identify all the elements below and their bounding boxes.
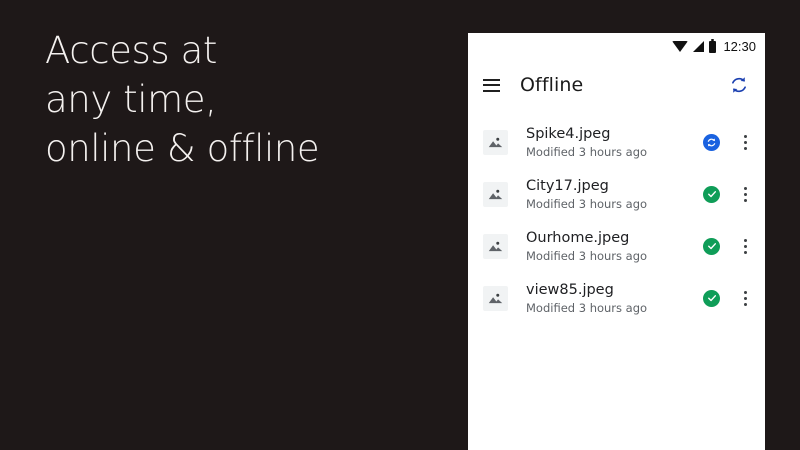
- file-name: view85.jpeg: [526, 281, 703, 299]
- kebab-dot: [744, 141, 747, 144]
- check-badge-glyph: [706, 292, 718, 304]
- hamburger-bar: [483, 90, 500, 92]
- file-modified: Modified 3 hours ago: [526, 196, 703, 212]
- file-info: view85.jpeg Modified 3 hours ago: [526, 281, 703, 316]
- image-placeholder-icon: [483, 130, 508, 155]
- hamburger-bar: [483, 79, 500, 81]
- promo-headline-line-3: online & offline: [45, 124, 445, 173]
- image-placeholder-icon: [483, 286, 508, 311]
- file-name: Ourhome.jpeg: [526, 229, 703, 247]
- image-placeholder-glyph: [487, 186, 504, 203]
- promo-screenshot: Access at any time, online & offline 12:…: [0, 0, 800, 450]
- file-info: Spike4.jpeg Modified 3 hours ago: [526, 125, 703, 160]
- image-placeholder-glyph: [487, 238, 504, 255]
- more-vert-icon[interactable]: [738, 237, 752, 255]
- signal-icon: [693, 41, 704, 52]
- kebab-dot: [744, 239, 747, 242]
- status-bar: 12:30: [468, 33, 765, 60]
- sync-refresh-glyph: [728, 74, 750, 96]
- kebab-dot: [744, 147, 747, 150]
- kebab-dot: [744, 297, 747, 300]
- check-badge-glyph: [706, 188, 718, 200]
- check-badge-icon: [703, 290, 720, 307]
- hamburger-bar: [483, 84, 500, 86]
- hamburger-menu-icon[interactable]: [483, 79, 500, 92]
- kebab-dot: [744, 193, 747, 196]
- image-placeholder-glyph: [487, 290, 504, 307]
- sync-badge-icon: [703, 134, 720, 151]
- promo-headline: Access at any time, online & offline: [45, 26, 445, 173]
- file-name: City17.jpeg: [526, 177, 703, 195]
- sync-refresh-icon[interactable]: [727, 73, 751, 97]
- status-bar-clock: 12:30: [723, 39, 756, 54]
- table-row[interactable]: Spike4.jpeg Modified 3 hours ago: [468, 116, 765, 168]
- page-title: Offline: [520, 74, 727, 96]
- image-placeholder-glyph: [487, 134, 504, 151]
- image-placeholder-icon: [483, 234, 508, 259]
- promo-headline-line-2: any time,: [45, 75, 445, 124]
- kebab-dot: [744, 187, 747, 190]
- kebab-dot: [744, 199, 747, 202]
- wifi-icon: [672, 41, 688, 52]
- file-info: City17.jpeg Modified 3 hours ago: [526, 177, 703, 212]
- kebab-dot: [744, 135, 747, 138]
- sync-badge-glyph: [705, 136, 718, 149]
- kebab-dot: [744, 245, 747, 248]
- kebab-dot: [744, 291, 747, 294]
- phone-screen: 12:30 Offline: [468, 33, 765, 450]
- battery-icon: [709, 41, 716, 53]
- file-name: Spike4.jpeg: [526, 125, 703, 143]
- check-badge-icon: [703, 238, 720, 255]
- status-bar-icons: 12:30: [672, 39, 756, 54]
- more-vert-icon[interactable]: [738, 289, 752, 307]
- table-row[interactable]: Ourhome.jpeg Modified 3 hours ago: [468, 220, 765, 272]
- app-bar: Offline: [468, 60, 765, 110]
- offline-file-list: Spike4.jpeg Modified 3 hours ago: [468, 110, 765, 324]
- check-badge-icon: [703, 186, 720, 203]
- check-badge-glyph: [706, 240, 718, 252]
- kebab-dot: [744, 303, 747, 306]
- file-modified: Modified 3 hours ago: [526, 144, 703, 160]
- table-row[interactable]: City17.jpeg Modified 3 hours ago: [468, 168, 765, 220]
- image-placeholder-icon: [483, 182, 508, 207]
- promo-headline-line-1: Access at: [45, 26, 445, 75]
- table-row[interactable]: view85.jpeg Modified 3 hours ago: [468, 272, 765, 324]
- more-vert-icon[interactable]: [738, 133, 752, 151]
- file-modified: Modified 3 hours ago: [526, 300, 703, 316]
- file-info: Ourhome.jpeg Modified 3 hours ago: [526, 229, 703, 264]
- more-vert-icon[interactable]: [738, 185, 752, 203]
- kebab-dot: [744, 251, 747, 254]
- file-modified: Modified 3 hours ago: [526, 248, 703, 264]
